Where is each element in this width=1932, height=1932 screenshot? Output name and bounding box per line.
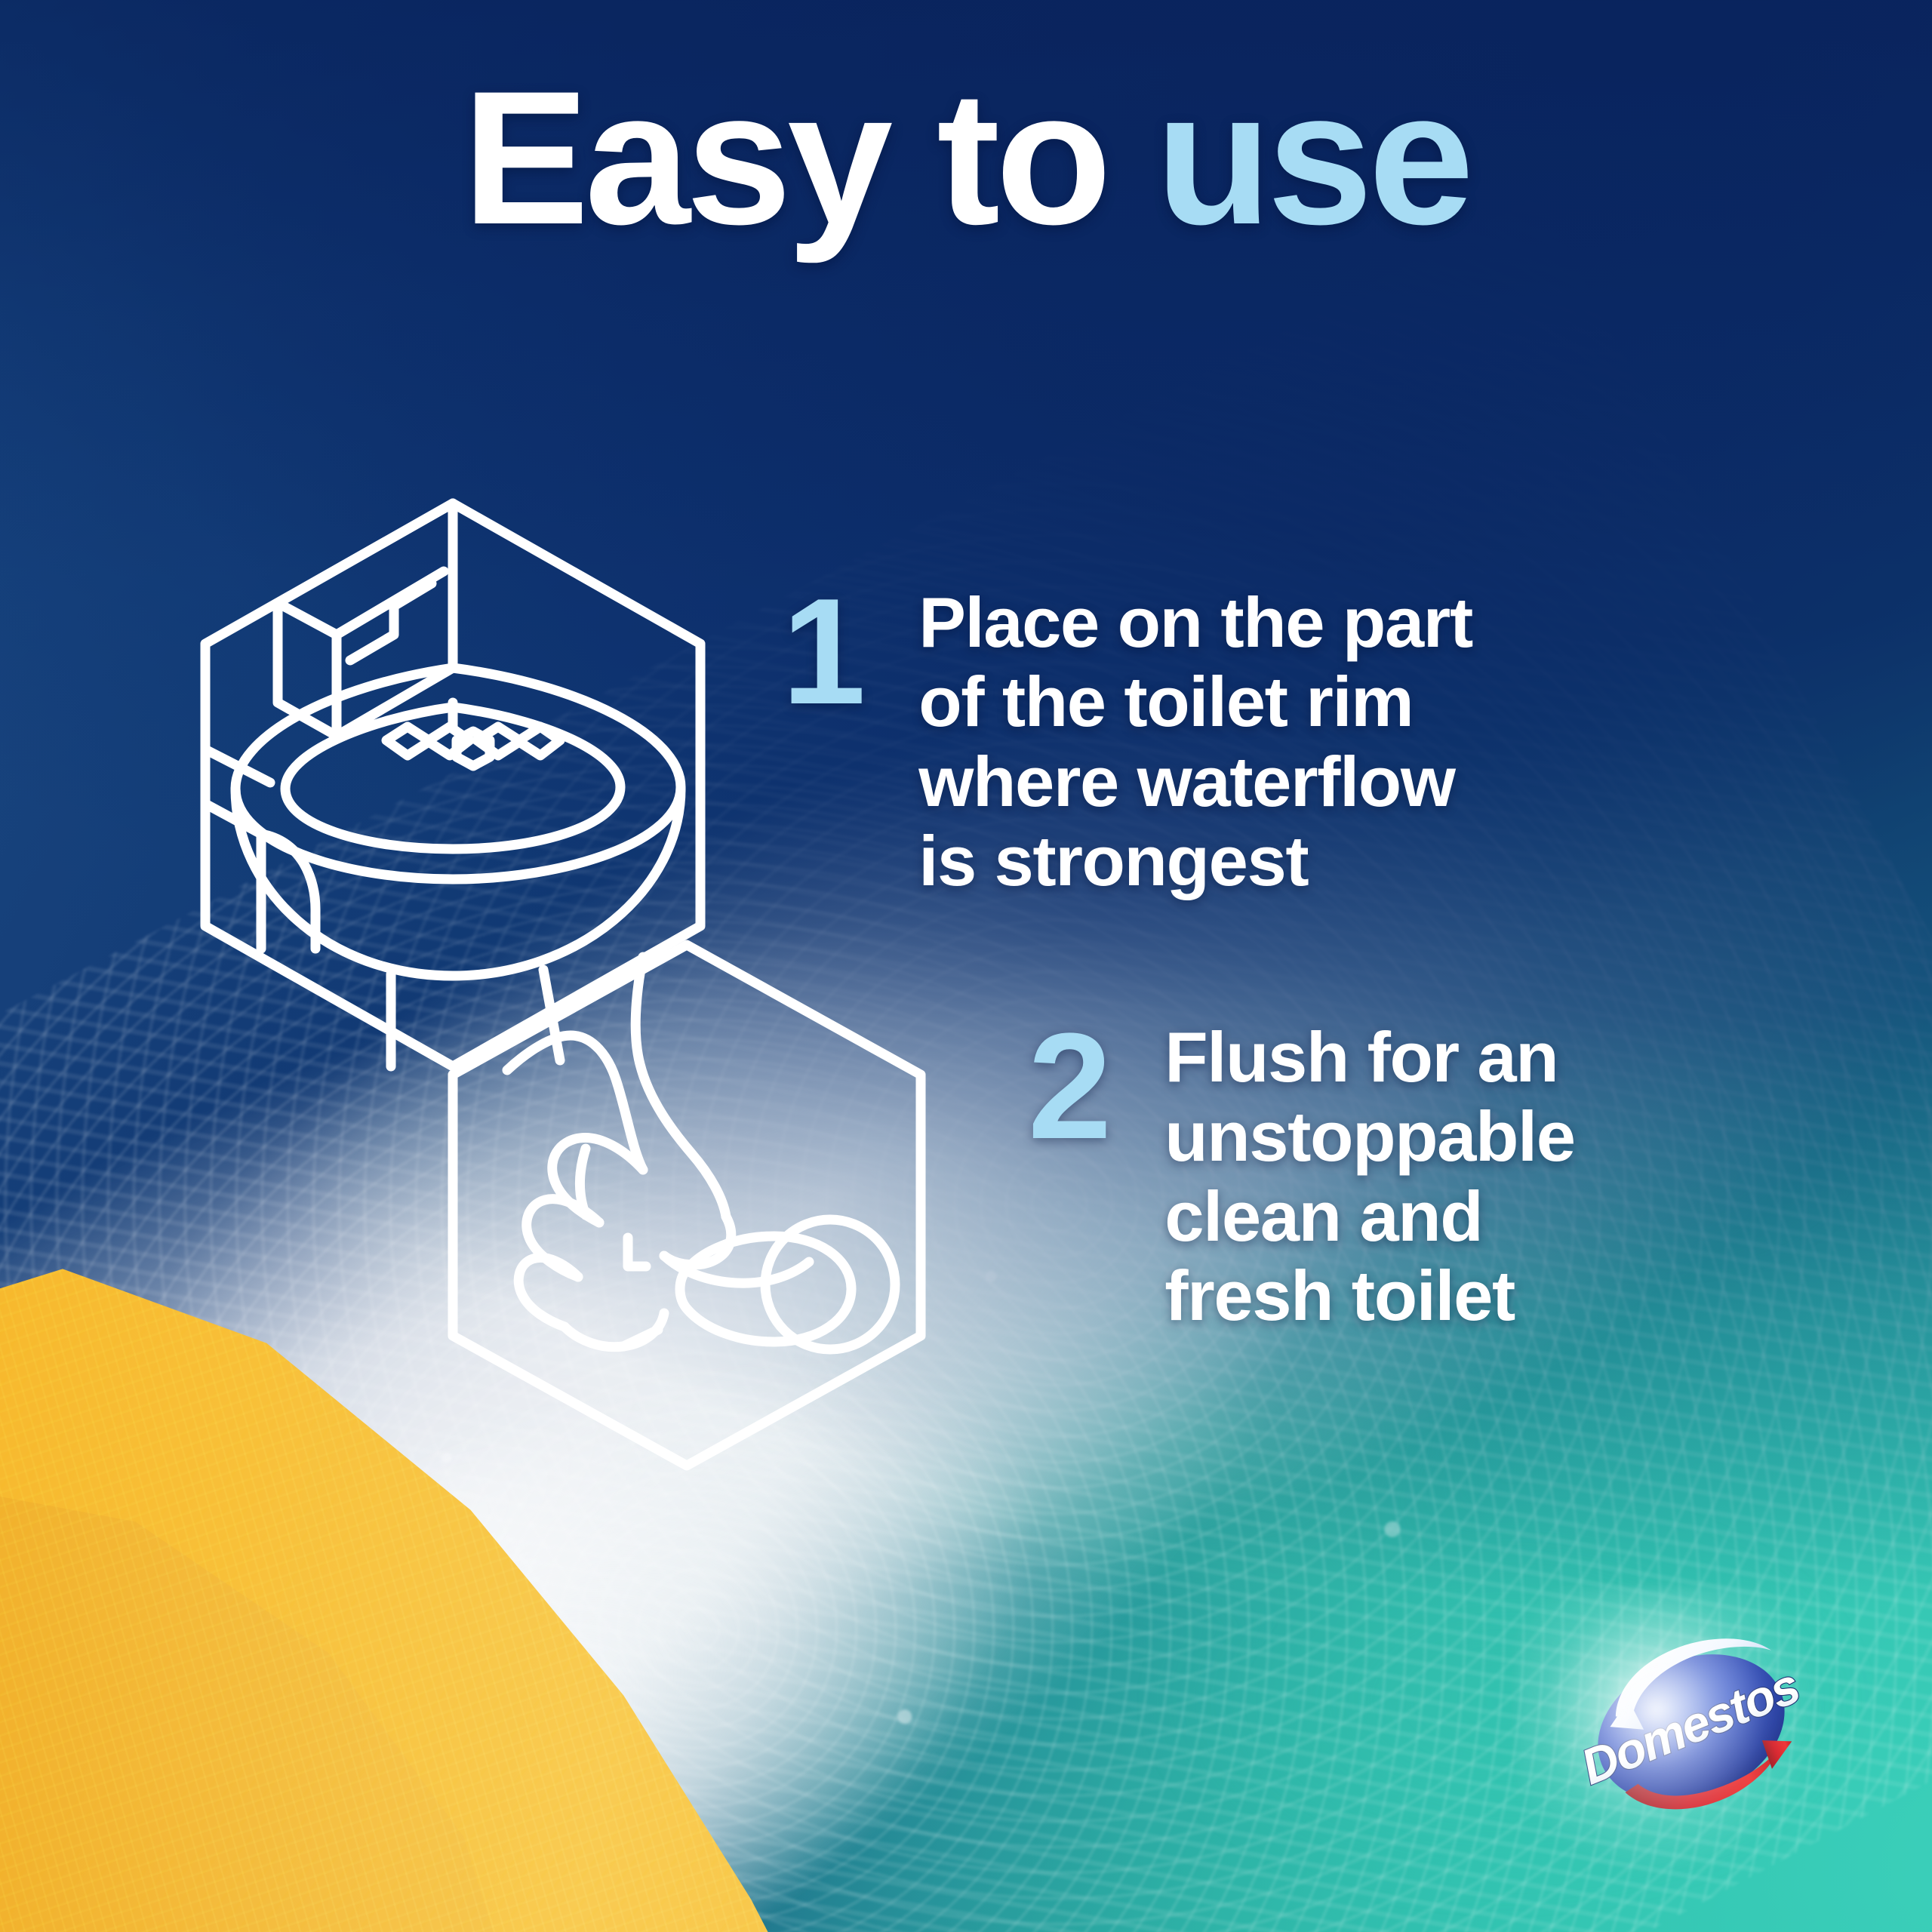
step-item-1: 1 Place on the part of the toilet rim wh… <box>782 583 1472 900</box>
step-number-1: 1 <box>782 583 863 721</box>
step-number-2: 2 <box>1028 1017 1109 1156</box>
step-text-1: Place on the part of the toilet rim wher… <box>918 583 1472 900</box>
step-text-2: Flush for an unstoppable clean and fresh… <box>1164 1017 1574 1335</box>
domestos-logo: Domestos <box>1559 1615 1823 1841</box>
poster-canvas: Easy to use <box>0 0 1932 1932</box>
logo-glow <box>1517 1588 1866 1878</box>
step-item-2: 2 Flush for an unstoppable clean and fre… <box>1028 1017 1575 1335</box>
